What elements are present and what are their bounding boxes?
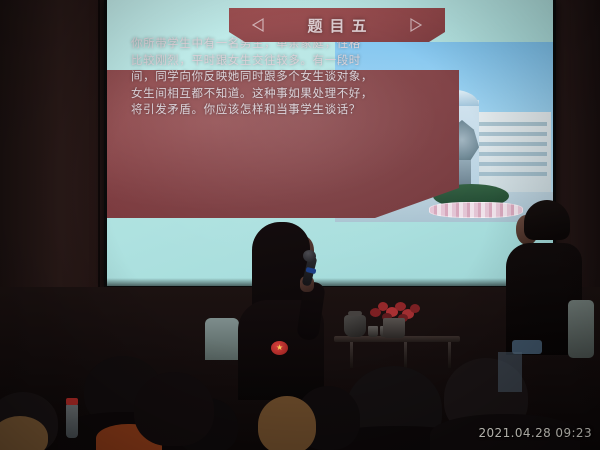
slide-body-text: 你所带学生中有一名男生，单亲家庭，性格 比较刚烈，平时跟女生交往较多。有一段时 … — [131, 36, 431, 119]
wall-seam — [98, 0, 100, 300]
badge-star-icon: ★ — [276, 344, 283, 352]
triangle-right-icon[interactable] — [407, 17, 423, 33]
photograph-scene: 你所带学生中有一名男生，单亲家庭，性格 比较刚烈，平时跟女生交往较多。有一段时 … — [0, 0, 600, 450]
audience-head — [134, 372, 214, 446]
teapot — [344, 315, 366, 337]
slide-body-line: 间，同学向你反映她同时跟多个女生谈对象， — [131, 69, 431, 86]
audience-back — [498, 352, 522, 392]
screen-bottom-shadow — [107, 278, 553, 286]
chair-right — [568, 300, 594, 358]
water-bottle-cap — [66, 398, 78, 405]
participant-hair — [524, 200, 570, 240]
chair-left — [205, 318, 239, 360]
teapot-lid — [348, 311, 362, 316]
slide-body-line: 将引发矛盾。你应该怎样和当事学生谈话？ — [131, 102, 431, 119]
triangle-left-icon[interactable] — [251, 17, 267, 33]
slide-title-ribbon: 题目五 — [229, 8, 445, 42]
camera-timestamp: 2021.04.28 09:23 — [478, 426, 592, 440]
vase — [383, 318, 405, 338]
photo-flowerbed — [429, 202, 523, 218]
slide-body-line: 比较刚烈，平时跟女生交往较多。有一段时 — [131, 53, 431, 70]
audience-head-light — [258, 396, 316, 450]
water-bottle — [66, 404, 78, 438]
slide-body-line: 女生间相互都不知道。这种事如果处理不好， — [131, 86, 431, 103]
cup — [368, 326, 378, 337]
presentation-slide: 你所带学生中有一名男生，单亲家庭，性格 比较刚烈，平时跟女生交往较多。有一段时 … — [107, 0, 553, 286]
projection-screen: 你所带学生中有一名男生，单亲家庭，性格 比较刚烈，平时跟女生交往较多。有一段时 … — [107, 0, 553, 286]
